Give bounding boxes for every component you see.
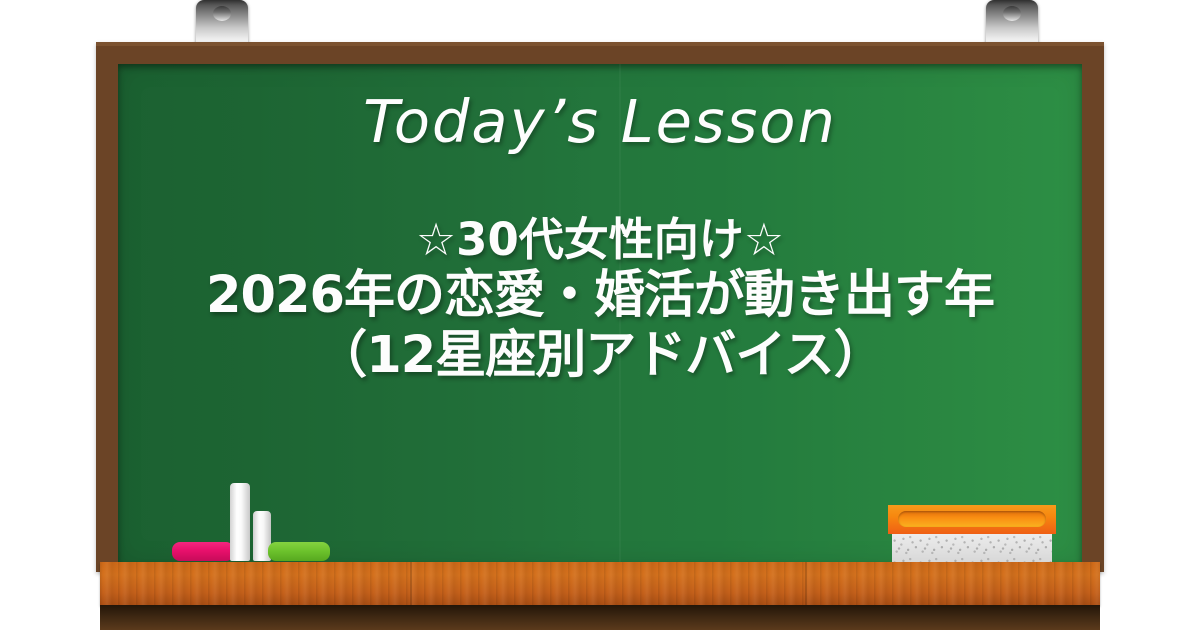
ledge-seam-right bbox=[805, 562, 807, 605]
chalk-pink bbox=[172, 542, 234, 561]
chalkboard-surface: Today’s Lesson ☆30代女性向け☆ 2026年の恋愛・婚活が動き出… bbox=[118, 64, 1082, 564]
headline-line-1: ☆30代女性向け☆ bbox=[118, 213, 1082, 266]
ledge-shadow bbox=[100, 605, 1100, 630]
page-title: Today’s Lesson bbox=[118, 64, 1082, 151]
eraser-felt bbox=[892, 534, 1052, 562]
headline: ☆30代女性向け☆ 2026年の恋愛・婚活が動き出す年 （12星座別アドバイス） bbox=[118, 151, 1082, 386]
hanging-bracket-right-icon bbox=[986, 0, 1038, 48]
ledge-seam-left bbox=[410, 562, 412, 605]
chalkboard-scene: Today’s Lesson ☆30代女性向け☆ 2026年の恋愛・婚活が動き出… bbox=[0, 0, 1200, 630]
hanging-bracket-left-icon bbox=[196, 0, 248, 48]
headline-line-3: （12星座別アドバイス） bbox=[118, 326, 1082, 386]
chalk-ledge bbox=[100, 562, 1100, 605]
blackboard-eraser bbox=[888, 505, 1056, 562]
board-text-block: Today’s Lesson ☆30代女性向け☆ 2026年の恋愛・婚活が動き出… bbox=[118, 64, 1082, 564]
chalk-white-tall bbox=[230, 483, 250, 561]
eraser-top bbox=[888, 505, 1056, 534]
eraser-grip bbox=[898, 511, 1046, 527]
frame-top-highlight bbox=[96, 42, 1104, 46]
headline-line-2: 2026年の恋愛・婚活が動き出す年 bbox=[118, 266, 1082, 326]
chalk-green bbox=[268, 542, 330, 561]
